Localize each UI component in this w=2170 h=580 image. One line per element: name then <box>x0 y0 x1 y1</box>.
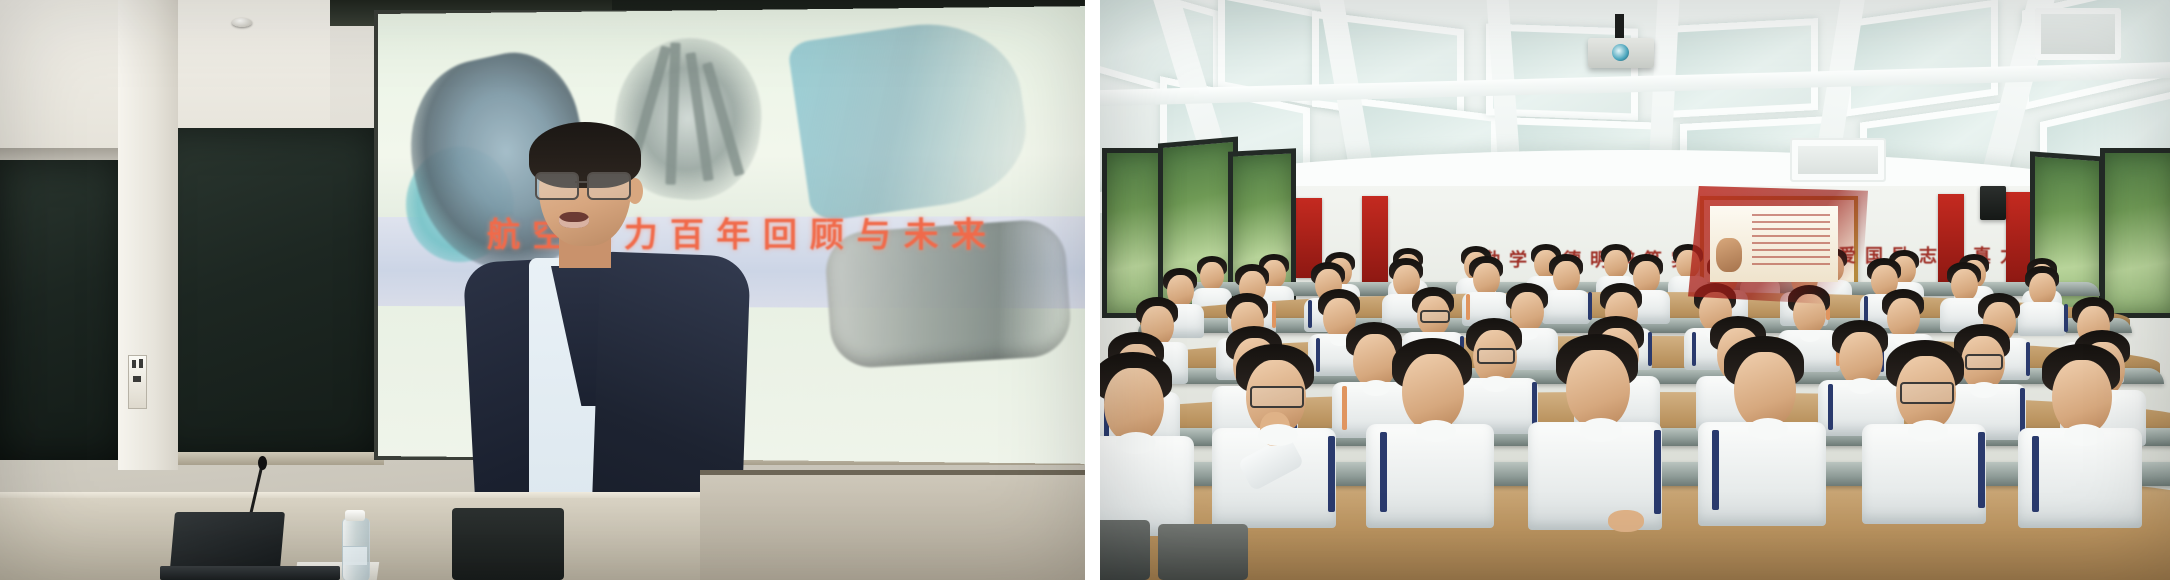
ceiling-light-panel <box>1844 0 1998 117</box>
bottle-label <box>343 546 367 565</box>
photo-gutter <box>1085 0 1100 580</box>
projector-lens-icon <box>1612 44 1629 61</box>
eyeglasses-icon <box>1965 354 2003 370</box>
floor-edge-line <box>700 470 1085 475</box>
ceiling-light-panel <box>1666 18 1818 118</box>
chair-front-left <box>1100 520 1150 580</box>
right-photo-students: 勤学修德明辨笃实 爱国励志求真力行 <box>1100 0 2170 580</box>
air-conditioner-vent <box>1790 138 1886 182</box>
wall-switch-plate[interactable] <box>128 355 147 409</box>
left-photo-lecturer: 航空动力百年回顾与未来 西北工业大学 教育实验学院 <box>0 0 1085 580</box>
microphone-icon <box>258 456 267 470</box>
eyeglasses-icon <box>535 172 635 198</box>
window-left <box>1102 148 1166 318</box>
screenshot-root: 航空动力百年回顾与未来 西北工业大学 教育实验学院 <box>0 0 2170 580</box>
smoke-detector-icon <box>232 18 252 27</box>
wall-slogan-left: 勤学修德明辨笃实 <box>1482 246 1698 272</box>
air-conditioner-vent-2 <box>2035 8 2121 60</box>
floor-area <box>700 470 1085 580</box>
poster-portrait <box>1716 238 1742 272</box>
chair <box>452 508 564 580</box>
laptop-keyboard <box>160 566 340 580</box>
eyeglasses-icon <box>1420 310 1450 323</box>
poster-text-lines <box>1752 214 1830 268</box>
blackboard-left <box>0 160 122 460</box>
bottle-cap <box>345 510 365 521</box>
mouth-speaking <box>559 212 589 228</box>
eyeglasses-icon <box>1250 386 1304 408</box>
eyeglasses-icon <box>1477 348 1515 364</box>
eyeglasses-icon <box>1900 382 1954 404</box>
chair-front-left-2 <box>1158 524 1248 580</box>
wall-speaker <box>1980 186 2006 220</box>
red-banner <box>1362 196 1388 284</box>
projector-mount <box>1615 14 1624 40</box>
window-right <box>2100 148 2170 318</box>
blackboard-center <box>150 128 380 458</box>
wall-pillar <box>118 0 178 470</box>
